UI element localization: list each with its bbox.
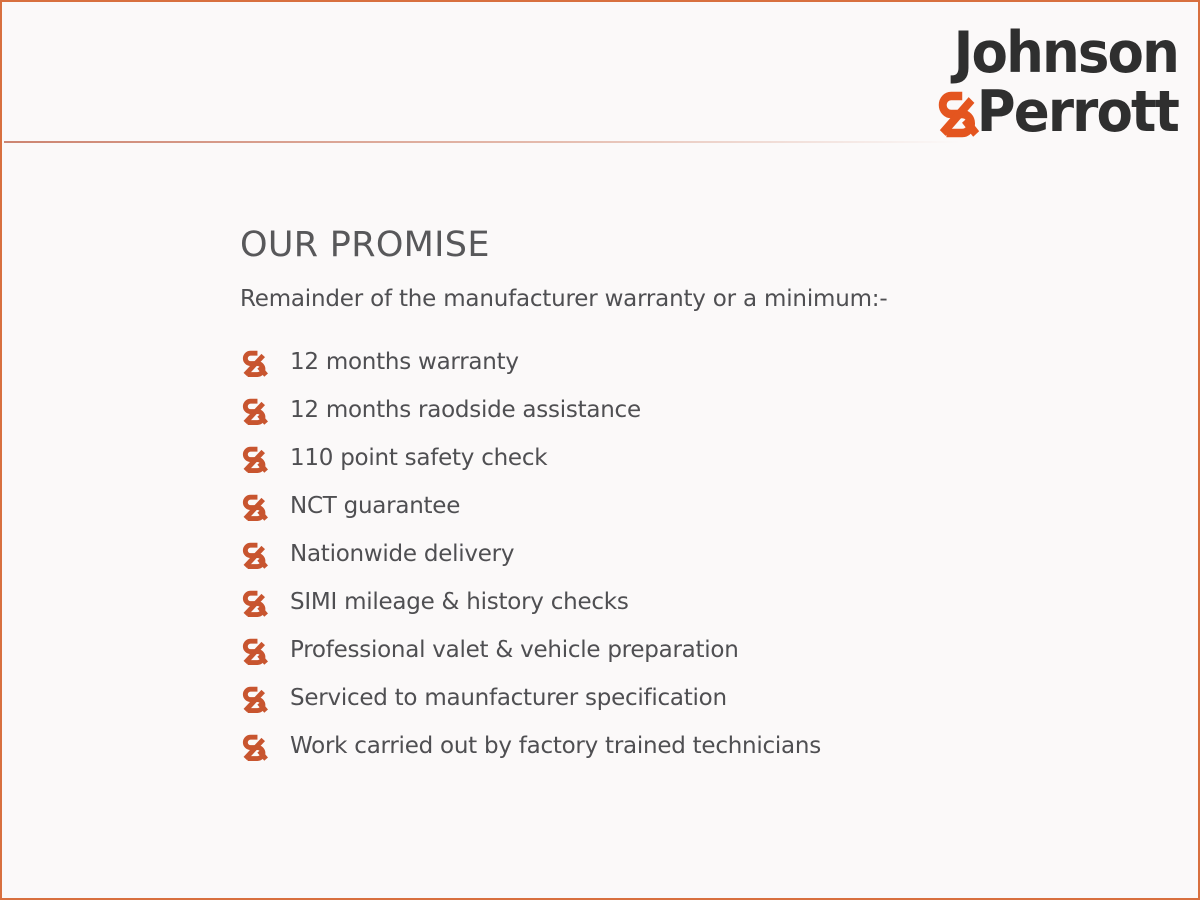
list-item: Nationwide delivery xyxy=(240,530,1140,578)
list-item-label: 12 months raodside assistance xyxy=(290,395,641,425)
ampersand-bullet-icon xyxy=(240,444,268,474)
list-item: 110 point safety check xyxy=(240,434,1140,482)
list-item: 12 months warranty xyxy=(240,338,1140,386)
ampersand-bullet-icon xyxy=(240,636,268,666)
logo-line-perrott: Perrott xyxy=(916,82,1178,142)
ampersand-bullet-icon xyxy=(240,348,268,378)
logo-line-johnson: Johnson xyxy=(916,24,1178,82)
list-item-label: 110 point safety check xyxy=(290,443,547,473)
list-item: 12 months raodside assistance xyxy=(240,386,1140,434)
list-item: Serviced to maunfacturer specification xyxy=(240,674,1140,722)
brand-logo: Johnson Perrott xyxy=(896,24,1178,143)
promise-list: 12 months warranty 12 months raodside as… xyxy=(240,338,1140,770)
list-item-label: 12 months warranty xyxy=(290,347,519,377)
promise-page: Johnson Perrott OUR PROMISE Remainder of… xyxy=(0,0,1200,900)
header-banner: Johnson Perrott xyxy=(4,12,1200,143)
list-item-label: SIMI mileage & history checks xyxy=(290,587,629,617)
ampersand-bullet-icon xyxy=(240,492,268,522)
ampersand-bullet-icon xyxy=(240,588,268,618)
list-item-label: Work carried out by factory trained tech… xyxy=(290,731,821,761)
ampersand-logo-icon xyxy=(934,87,979,139)
ampersand-bullet-icon xyxy=(240,540,268,570)
list-item-label: Serviced to maunfacturer specification xyxy=(290,683,727,713)
list-item-label: NCT guarantee xyxy=(290,491,460,521)
ampersand-bullet-icon xyxy=(240,684,268,714)
promise-subtitle: Remainder of the manufacturer warranty o… xyxy=(240,284,1140,314)
ampersand-bullet-icon xyxy=(240,732,268,762)
ampersand-bullet-icon xyxy=(240,396,268,426)
page-title: OUR PROMISE xyxy=(240,224,1140,266)
list-item-label: Professional valet & vehicle preparation xyxy=(290,635,739,665)
list-item: NCT guarantee xyxy=(240,482,1140,530)
list-item: Professional valet & vehicle preparation xyxy=(240,626,1140,674)
list-item-label: Nationwide delivery xyxy=(290,539,514,569)
promise-content: OUR PROMISE Remainder of the manufacture… xyxy=(240,224,1140,770)
list-item: Work carried out by factory trained tech… xyxy=(240,722,1140,770)
logo-perrott-text: Perrott xyxy=(977,79,1178,143)
list-item: SIMI mileage & history checks xyxy=(240,578,1140,626)
